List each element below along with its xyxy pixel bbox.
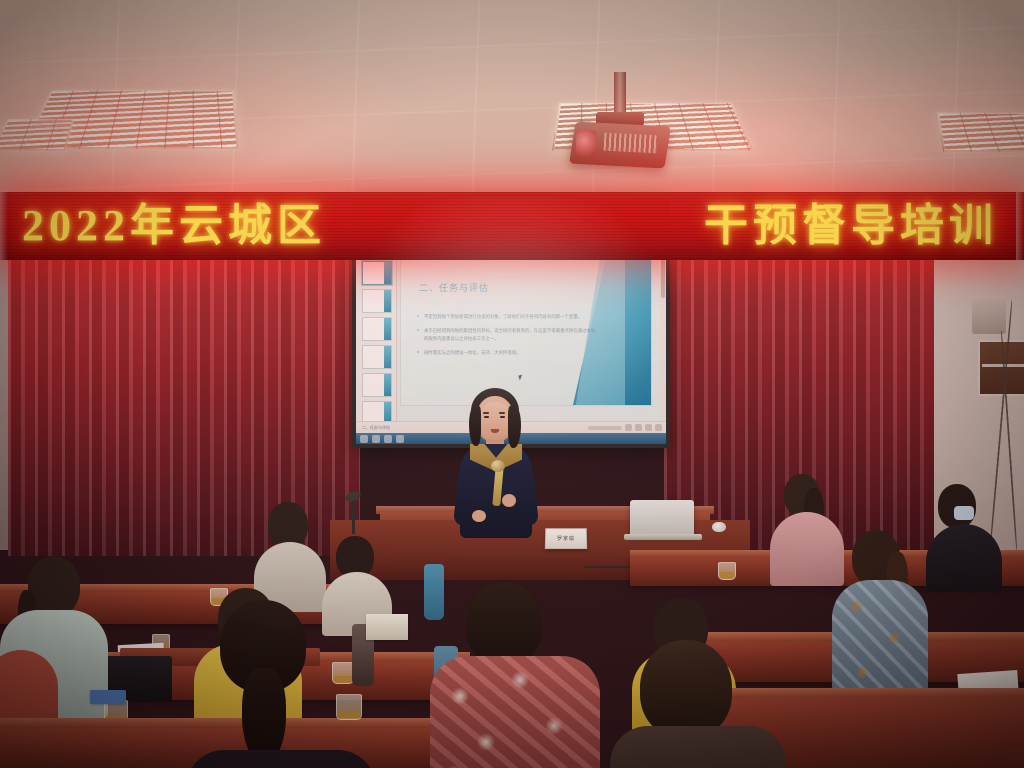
taskbar-wps-icon[interactable] [396,435,404,443]
tea-cup-6 [336,694,362,720]
slide-thumbnail-2[interactable] [362,289,392,313]
taskbar-start-icon[interactable] [360,435,368,443]
slide-scrollbar[interactable] [660,252,666,422]
stage-curtain-left [8,256,360,556]
presenter-face [478,402,512,440]
attendee-body [610,726,786,768]
tissue-box [366,614,408,640]
slide-thumbnail-1[interactable] [362,261,392,285]
slide-body: 不定见到每个参加者或进行访谈的对象，了解他们对于各项内容有的那一个变量。 关于已… [417,313,599,364]
presenter-mouth [491,429,499,433]
slide-thumbnail-3[interactable] [362,317,392,341]
presenter-hair-right [508,406,521,448]
presenter-eye-right [500,416,505,418]
wall-speaker [972,300,1006,334]
face-mask-icon [954,506,974,520]
slide-title: 二、任务与评估 [419,281,489,294]
podium-mic-stand [352,500,355,534]
banner-edge-right [1016,192,1024,260]
zoom-slider[interactable] [588,426,622,430]
slide-bullet-2: 关于已经得到的地的集团性的目标，适合研究者教育的，在这里学者最重点原在通过本地的… [417,327,599,342]
ceiling-red-glow [0,0,1024,195]
slide-thumbnail-4[interactable] [362,345,392,369]
taskbar-browser-icon[interactable] [384,435,392,443]
nameplate: 罗家瑜 [545,528,587,549]
water-bottle-1 [424,564,444,620]
presenter-laptop [630,500,694,536]
status-slide-label: 二、任务与评估 [362,425,390,431]
presenter-brow-left [483,412,489,414]
view-sorter-icon[interactable] [635,424,642,431]
slide-thumbnail-5[interactable] [362,373,392,397]
attendee-head [640,640,732,738]
microphone-head-icon [491,460,505,472]
presenter-brow-right [499,412,505,414]
view-slideshow-icon[interactable] [655,424,662,431]
tea-cup-3 [718,562,736,580]
presenter-hair-left [469,406,481,446]
blue-item [90,690,126,704]
attendee-body [186,750,376,768]
desk-front-right-top [720,688,1024,698]
training-room-photo: 2022年云城区干预督导培训.pptx 文件 开始 插入 设计 切换 动画 幻灯… [0,0,1024,768]
tea-cup-4 [332,662,354,684]
presenter-hand-left [472,510,486,522]
taskbar-explorer-icon[interactable] [372,435,380,443]
active-slide[interactable]: 二、任务与评估 不定见到每个参加者或进行访谈的对象，了解他们对于各项内容有的那一… [400,258,652,406]
view-normal-icon[interactable] [625,424,632,431]
presenter-eye-left [484,416,489,418]
slide-thumbnail-panel[interactable] [356,252,397,444]
slide-bullet-3: 同时落实与之的建设一体化、支持、大的环境值。 [417,349,599,356]
banner-edge-left [0,192,8,260]
attendee-body [926,524,1002,592]
female-presenter [440,388,552,538]
attendee-head [466,582,542,666]
laptop-base [624,534,702,540]
computer-mouse-icon [712,522,726,532]
attendee-body [770,512,844,586]
status-view-buttons[interactable] [625,424,662,431]
slide-bullet-1: 不定见到每个参加者或进行访谈的对象，了解他们对于各项内容有的那一个变量。 [417,313,599,320]
banner-text-left: 2022年云城区 [22,196,326,256]
mouse-cursor-icon [518,375,523,381]
banner-text-right: 干预督导培训 [704,196,998,256]
attendee-body [430,656,600,768]
presenter-hand-right [502,494,516,507]
view-reading-icon[interactable] [645,424,652,431]
